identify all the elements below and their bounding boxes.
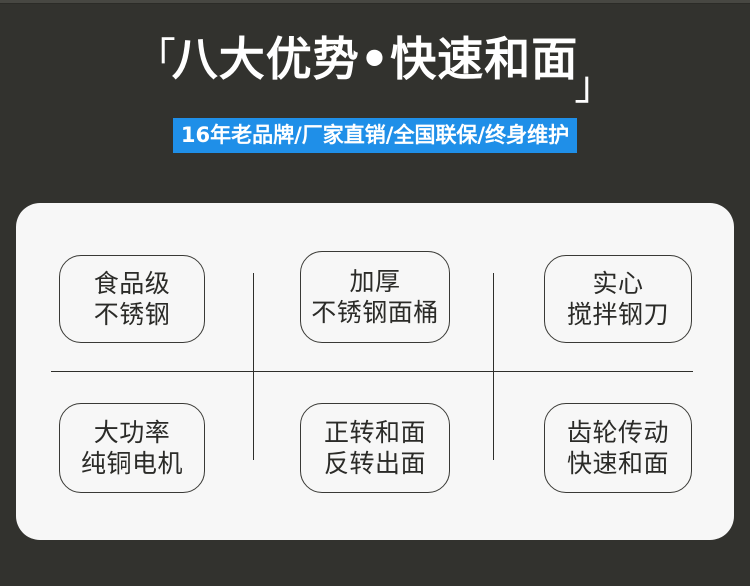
subtitle-container: 16年老品牌/厂家直销/全国联保/终身维护 [0,118,750,153]
promo-banner-page: 「八大优势•快速和面」 16年老品牌/厂家直销/全国联保/终身维护 食品级 不锈… [0,0,750,586]
feature-item-2-line2: 不锈钢面桶 [311,297,439,328]
feature-item-2: 加厚 不锈钢面桶 [300,251,450,343]
feature-item-4: 大功率 纯铜电机 [59,403,205,493]
subtitle-badge: 16年老品牌/厂家直销/全国联保/终身维护 [173,118,577,153]
feature-item-5-line2: 反转出面 [324,448,426,479]
feature-item-3: 实心 搅拌钢刀 [544,255,692,343]
feature-item-4-line2: 纯铜电机 [81,448,183,479]
feature-item-3-line1: 实心 [592,268,643,299]
column-divider-1 [253,273,254,460]
page-title-text: 八大优势•快速和面 [172,36,578,82]
open-bracket-icon: 「 [136,38,176,78]
feature-item-1-line1: 食品级 [94,268,171,299]
feature-item-4-line1: 大功率 [94,417,171,448]
feature-item-5-line1: 正转和面 [324,417,426,448]
close-bracket-icon: 」 [574,66,614,106]
feature-item-6-line2: 快速和面 [567,448,669,479]
feature-item-1-line2: 不锈钢 [94,299,171,330]
feature-item-6-line1: 齿轮传动 [567,417,669,448]
feature-item-6: 齿轮传动 快速和面 [544,403,692,493]
column-divider-2 [493,273,494,460]
page-title: 「八大优势•快速和面」 [0,36,750,82]
feature-item-2-line1: 加厚 [349,266,400,297]
header-section: 「八大优势•快速和面」 16年老品牌/厂家直销/全国联保/终身维护 [0,0,750,203]
features-card: 食品级 不锈钢 加厚 不锈钢面桶 实心 搅拌钢刀 大功率 纯铜电机 正转和面 反… [16,203,734,540]
feature-item-1: 食品级 不锈钢 [59,255,205,343]
feature-item-3-line2: 搅拌钢刀 [567,299,669,330]
feature-item-5: 正转和面 反转出面 [300,403,450,493]
row-divider [51,371,693,372]
